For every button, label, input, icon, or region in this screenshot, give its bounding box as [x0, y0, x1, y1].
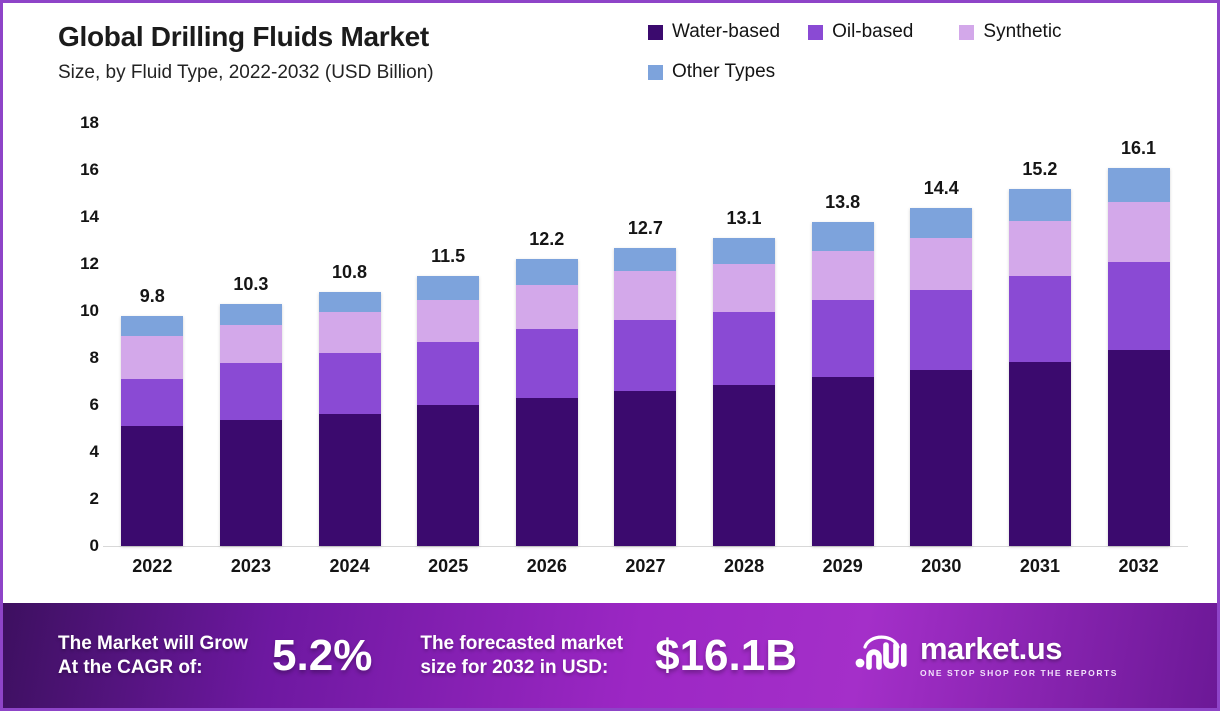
- bar-group-2024[interactable]: 10.8: [301, 123, 399, 546]
- legend-item-label: Synthetic: [983, 21, 1061, 43]
- market-us-logo[interactable]: market.us ONE STOP SHOP FOR THE REPORTS: [853, 633, 1118, 678]
- bar-group-2027[interactable]: 12.7: [596, 123, 694, 546]
- bar-total-label: 14.4: [892, 178, 990, 199]
- legend-item-label: Water-based: [672, 21, 780, 43]
- stacked-bar[interactable]: [614, 248, 676, 546]
- bar-segment-water-based[interactable]: [220, 420, 282, 546]
- bar-segment-water-based[interactable]: [516, 398, 578, 546]
- bar-segment-oil-based[interactable]: [516, 329, 578, 398]
- stacked-bar[interactable]: [121, 316, 183, 546]
- x-axis-tick-2030: 2030: [892, 556, 990, 577]
- forecast-caption-line2: size for 2032 in USD:: [420, 656, 623, 680]
- bar-segment-synthetic[interactable]: [812, 251, 874, 300]
- bar-series: 9.810.310.811.512.212.713.113.814.415.21…: [103, 123, 1188, 546]
- bar-segment-oil-based[interactable]: [713, 312, 775, 385]
- forecast-caption: The forecasted market size for 2032 in U…: [420, 632, 623, 680]
- bar-segment-synthetic[interactable]: [910, 238, 972, 290]
- bar-segment-synthetic[interactable]: [614, 271, 676, 320]
- y-axis-tick: 16: [51, 160, 99, 180]
- x-axis-tick-2025: 2025: [399, 556, 497, 577]
- bar-segment-synthetic[interactable]: [1108, 202, 1170, 262]
- legend-swatch-icon: [808, 25, 823, 40]
- x-axis-line: [103, 546, 1188, 547]
- x-axis-tick-2027: 2027: [596, 556, 694, 577]
- bar-segment-oil-based[interactable]: [812, 300, 874, 376]
- y-axis-tick: 12: [51, 254, 99, 274]
- x-axis-tick-2026: 2026: [498, 556, 596, 577]
- y-axis: 024681012141618: [51, 123, 99, 548]
- x-axis-tick-2028: 2028: [695, 556, 793, 577]
- cagr-caption: The Market will Grow At the CAGR of:: [58, 632, 248, 680]
- bar-segment-oil-based[interactable]: [910, 290, 972, 370]
- bar-segment-water-based[interactable]: [1009, 362, 1071, 546]
- stacked-bar[interactable]: [812, 222, 874, 546]
- bar-segment-water-based[interactable]: [910, 370, 972, 546]
- bar-group-2029[interactable]: 13.8: [794, 123, 892, 546]
- bar-segment-other-types[interactable]: [1009, 189, 1071, 221]
- stacked-bar[interactable]: [516, 259, 578, 546]
- legend-swatch-icon: [648, 25, 663, 40]
- bar-segment-other-types[interactable]: [812, 222, 874, 251]
- forecast-value: $16.1B: [655, 631, 797, 681]
- cagr-stat: The Market will Grow At the CAGR of: 5.2…: [58, 631, 372, 681]
- bar-segment-water-based[interactable]: [319, 414, 381, 546]
- bar-total-label: 12.7: [596, 218, 694, 239]
- bar-segment-water-based[interactable]: [121, 426, 183, 546]
- legend-item-other-types[interactable]: Other Types: [648, 59, 775, 85]
- y-axis-tick: 2: [51, 489, 99, 509]
- title-block: Global Drilling Fluids Market Size, by F…: [58, 21, 434, 84]
- bar-group-2023[interactable]: 10.3: [202, 123, 300, 546]
- bar-segment-water-based[interactable]: [1108, 350, 1170, 546]
- bar-group-2032[interactable]: 16.1: [1090, 123, 1188, 546]
- x-axis-tick-2031: 2031: [991, 556, 1089, 577]
- x-axis-tick-2032: 2032: [1090, 556, 1188, 577]
- chart-legend: Water-basedOil-basedSyntheticOther Types: [648, 19, 1188, 99]
- y-axis-tick: 8: [51, 348, 99, 368]
- legend-swatch-icon: [959, 25, 974, 40]
- chart-header: Global Drilling Fluids Market Size, by F…: [3, 3, 1217, 113]
- bar-total-label: 15.2: [991, 159, 1089, 180]
- bar-group-2028[interactable]: 13.1: [695, 123, 793, 546]
- bar-segment-water-based[interactable]: [614, 391, 676, 546]
- bar-segment-water-based[interactable]: [713, 385, 775, 546]
- bar-total-label: 10.8: [301, 262, 399, 283]
- bar-segment-synthetic[interactable]: [220, 325, 282, 363]
- bar-segment-oil-based[interactable]: [1108, 262, 1170, 350]
- x-axis-tick-2024: 2024: [301, 556, 399, 577]
- bar-group-2022[interactable]: 9.8: [103, 123, 201, 546]
- bar-total-label: 11.5: [399, 246, 497, 267]
- bar-group-2031[interactable]: 15.2: [991, 123, 1089, 546]
- bar-segment-synthetic[interactable]: [121, 336, 183, 379]
- stacked-bar[interactable]: [713, 238, 775, 546]
- logo-tagline: ONE STOP SHOP FOR THE REPORTS: [920, 668, 1118, 678]
- stacked-bar[interactable]: [417, 276, 479, 546]
- bar-segment-other-types[interactable]: [713, 238, 775, 264]
- legend-item-label: Other Types: [672, 61, 775, 83]
- bar-segment-other-types[interactable]: [516, 259, 578, 285]
- stacked-bar[interactable]: [319, 292, 381, 546]
- y-axis-tick: 18: [51, 113, 99, 133]
- bar-segment-synthetic[interactable]: [1009, 221, 1071, 276]
- stacked-bar[interactable]: [1009, 189, 1071, 546]
- forecast-caption-line1: The forecasted market: [420, 632, 623, 656]
- cagr-caption-line1: The Market will Grow: [58, 632, 248, 656]
- y-axis-tick: 14: [51, 207, 99, 227]
- y-axis-tick: 6: [51, 395, 99, 415]
- bar-segment-water-based[interactable]: [417, 405, 479, 546]
- stacked-bar[interactable]: [1108, 168, 1170, 546]
- cagr-caption-line2: At the CAGR of:: [58, 656, 248, 680]
- bar-segment-synthetic[interactable]: [417, 300, 479, 341]
- stacked-bar[interactable]: [220, 304, 282, 546]
- legend-item-label: Oil-based: [832, 21, 913, 43]
- bar-segment-oil-based[interactable]: [1009, 276, 1071, 362]
- forecast-stat: The forecasted market size for 2032 in U…: [420, 631, 797, 681]
- legend-swatch-icon: [648, 65, 663, 80]
- bar-segment-oil-based[interactable]: [614, 320, 676, 391]
- y-axis-tick: 4: [51, 442, 99, 462]
- footer-banner: The Market will Grow At the CAGR of: 5.2…: [3, 603, 1220, 708]
- bar-total-label: 13.1: [695, 208, 793, 229]
- bar-total-label: 16.1: [1090, 138, 1188, 159]
- bar-segment-synthetic[interactable]: [319, 312, 381, 353]
- page-subtitle: Size, by Fluid Type, 2022-2032 (USD Bill…: [58, 62, 434, 84]
- plot-area: 024681012141618 9.810.310.811.512.212.71…: [3, 113, 1220, 603]
- bar-segment-other-types[interactable]: [1108, 168, 1170, 202]
- bar-segment-other-types[interactable]: [614, 248, 676, 272]
- bar-group-2030[interactable]: 14.4: [892, 123, 990, 546]
- bar-segment-oil-based[interactable]: [319, 353, 381, 414]
- bar-group-2025[interactable]: 11.5: [399, 123, 497, 546]
- x-axis-tick-2023: 2023: [202, 556, 300, 577]
- logo-text: market.us ONE STOP SHOP FOR THE REPORTS: [920, 633, 1118, 678]
- infographic-root: Global Drilling Fluids Market Size, by F…: [0, 0, 1220, 711]
- y-axis-tick: 0: [51, 536, 99, 556]
- legend-item-water-based[interactable]: Water-based: [648, 19, 780, 45]
- bar-segment-oil-based[interactable]: [121, 379, 183, 426]
- legend-item-synthetic[interactable]: Synthetic: [959, 19, 1061, 45]
- bar-segment-other-types[interactable]: [319, 292, 381, 312]
- bar-segment-oil-based[interactable]: [417, 342, 479, 405]
- bar-segment-other-types[interactable]: [220, 304, 282, 325]
- bar-segment-oil-based[interactable]: [220, 363, 282, 421]
- x-axis-tick-2029: 2029: [794, 556, 892, 577]
- legend-item-oil-based[interactable]: Oil-based: [808, 19, 913, 45]
- bar-segment-synthetic[interactable]: [516, 285, 578, 328]
- bar-total-label: 13.8: [794, 192, 892, 213]
- bar-segment-water-based[interactable]: [812, 377, 874, 546]
- bar-segment-other-types[interactable]: [121, 316, 183, 336]
- market-us-logo-icon: [853, 633, 909, 678]
- x-axis-tick-2022: 2022: [103, 556, 201, 577]
- x-axis: 2022202320242025202620272028202920302031…: [103, 556, 1188, 577]
- bar-total-label: 12.2: [498, 229, 596, 250]
- bar-segment-other-types[interactable]: [910, 208, 972, 239]
- stacked-bar[interactable]: [910, 208, 972, 546]
- bar-group-2026[interactable]: 12.2: [498, 123, 596, 546]
- page-title: Global Drilling Fluids Market: [58, 21, 434, 53]
- logo-wordmark: market.us: [920, 633, 1118, 664]
- bar-segment-other-types[interactable]: [417, 276, 479, 301]
- cagr-value: 5.2%: [272, 631, 372, 681]
- bar-total-label: 10.3: [202, 274, 300, 295]
- y-axis-tick: 10: [51, 301, 99, 321]
- bar-total-label: 9.8: [103, 286, 201, 307]
- bar-segment-synthetic[interactable]: [713, 264, 775, 312]
